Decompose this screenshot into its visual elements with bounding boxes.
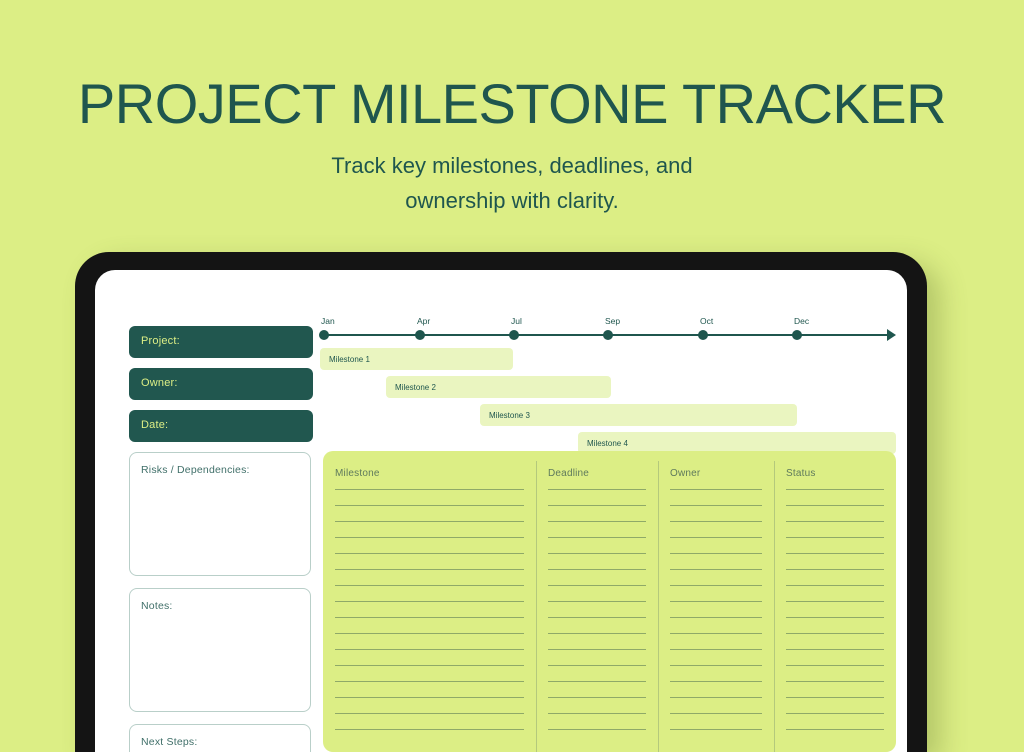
field-owner-label: Owner: — [141, 377, 178, 389]
table-row-line[interactable] — [548, 649, 646, 650]
timeline-tick-dot-oct — [698, 330, 708, 340]
table-row-line[interactable] — [335, 489, 524, 490]
timeline-tick-label-jan: Jan — [321, 316, 335, 326]
milestone-bar-1-label: Milestone 1 — [329, 355, 370, 364]
milestone-bar-1[interactable]: Milestone 1 — [320, 348, 513, 370]
table-row-line[interactable] — [548, 489, 646, 490]
table-row-line[interactable] — [335, 585, 524, 586]
milestone-bar-3[interactable]: Milestone 3 — [480, 404, 797, 426]
table-row-line[interactable] — [786, 569, 884, 570]
tablet-device-frame: Project: Owner: Date: Risks / Dependenci… — [75, 252, 927, 752]
field-project-label: Project: — [141, 335, 180, 347]
table-row-line[interactable] — [335, 713, 524, 714]
page-title: PROJECT MILESTONE TRACKER — [0, 0, 1024, 134]
timeline-tick-dot-jan — [319, 330, 329, 340]
table-header-deadline: Deadline — [548, 468, 589, 479]
table-row-line[interactable] — [786, 585, 884, 586]
table-row-line[interactable] — [548, 601, 646, 602]
timeline-tick-label-dec: Dec — [794, 316, 809, 326]
table-header-status: Status — [786, 468, 816, 479]
timeline-tick-dot-dec — [792, 330, 802, 340]
table-row-line[interactable] — [786, 505, 884, 506]
field-owner[interactable]: Owner: — [129, 368, 313, 400]
timeline-tick-dot-sep — [603, 330, 613, 340]
timeline-tick-label-sep: Sep — [605, 316, 620, 326]
subtitle-line-2: ownership with clarity. — [202, 183, 822, 218]
table-row-line[interactable] — [786, 521, 884, 522]
table-row-line[interactable] — [786, 681, 884, 682]
table-row-line[interactable] — [548, 537, 646, 538]
table-row-line[interactable] — [670, 729, 762, 730]
risks-dependencies-box[interactable]: Risks / Dependencies: — [129, 452, 311, 576]
notes-box[interactable]: Notes: — [129, 588, 311, 712]
table-row-line[interactable] — [670, 617, 762, 618]
table-header-milestone: Milestone — [335, 468, 380, 479]
page-subtitle: Track key milestones, deadlines, and own… — [202, 148, 822, 218]
table-row-line[interactable] — [335, 665, 524, 666]
risks-dependencies-label: Risks / Dependencies: — [141, 464, 250, 476]
table-row-line[interactable] — [335, 617, 524, 618]
table-row-line[interactable] — [786, 617, 884, 618]
table-row-line[interactable] — [670, 505, 762, 506]
table-row-line[interactable] — [548, 697, 646, 698]
table-row-line[interactable] — [786, 697, 884, 698]
table-row-line[interactable] — [670, 713, 762, 714]
timeline-arrow-icon — [887, 329, 896, 341]
subtitle-line-1: Track key milestones, deadlines, and — [202, 148, 822, 183]
table-row-line[interactable] — [786, 713, 884, 714]
table-row-line[interactable] — [786, 649, 884, 650]
table-row-line[interactable] — [335, 505, 524, 506]
table-row-line[interactable] — [335, 521, 524, 522]
next-steps-box[interactable]: Next Steps: — [129, 724, 311, 752]
milestone-table: MilestoneDeadlineOwnerStatus — [323, 451, 896, 752]
table-row-line[interactable] — [335, 569, 524, 570]
table-row-line[interactable] — [670, 521, 762, 522]
table-row-line[interactable] — [786, 537, 884, 538]
milestone-bar-2-label: Milestone 2 — [395, 383, 436, 392]
table-row-line[interactable] — [548, 521, 646, 522]
table-row-line[interactable] — [548, 665, 646, 666]
milestone-bar-2[interactable]: Milestone 2 — [386, 376, 611, 398]
table-row-line[interactable] — [335, 601, 524, 602]
timeline-tick-label-oct: Oct — [700, 316, 713, 326]
table-row-line[interactable] — [548, 569, 646, 570]
table-row-line[interactable] — [335, 681, 524, 682]
timeline-tick-dot-apr — [415, 330, 425, 340]
field-date[interactable]: Date: — [129, 410, 313, 442]
table-row-line[interactable] — [548, 681, 646, 682]
table-column-divider — [774, 461, 775, 752]
field-date-label: Date: — [141, 419, 168, 431]
table-row-line[interactable] — [335, 553, 524, 554]
timeline-tick-dot-jul — [509, 330, 519, 340]
table-row-line[interactable] — [786, 729, 884, 730]
table-row-line[interactable] — [786, 601, 884, 602]
table-row-line[interactable] — [548, 729, 646, 730]
table-row-line[interactable] — [786, 665, 884, 666]
milestone-bar-4-label: Milestone 4 — [587, 439, 628, 448]
timeline-axis: JanAprJulSepOctDec — [324, 316, 899, 340]
table-row-line[interactable] — [670, 681, 762, 682]
milestone-bar-3-label: Milestone 3 — [489, 411, 530, 420]
table-row-line[interactable] — [548, 633, 646, 634]
table-row-line[interactable] — [335, 729, 524, 730]
table-row-line[interactable] — [670, 649, 762, 650]
table-row-line[interactable] — [670, 697, 762, 698]
table-row-line[interactable] — [335, 537, 524, 538]
timeline-tick-label-jul: Jul — [511, 316, 522, 326]
table-row-line[interactable] — [548, 585, 646, 586]
table-row-line[interactable] — [670, 489, 762, 490]
table-row-line[interactable] — [335, 697, 524, 698]
table-row-line[interactable] — [548, 713, 646, 714]
page-header: PROJECT MILESTONE TRACKER Track key mile… — [0, 0, 1024, 218]
table-column-divider — [536, 461, 537, 752]
table-row-line[interactable] — [670, 601, 762, 602]
table-row-line[interactable] — [335, 633, 524, 634]
table-row-line[interactable] — [335, 649, 524, 650]
table-row-line[interactable] — [786, 553, 884, 554]
field-project[interactable]: Project: — [129, 326, 313, 358]
notes-label: Notes: — [141, 600, 173, 612]
table-row-line[interactable] — [548, 505, 646, 506]
table-row-line[interactable] — [670, 537, 762, 538]
table-row-line[interactable] — [670, 553, 762, 554]
tablet-screen: Project: Owner: Date: Risks / Dependenci… — [95, 270, 907, 752]
table-row-line[interactable] — [670, 633, 762, 634]
table-row-line[interactable] — [670, 665, 762, 666]
table-row-line[interactable] — [786, 489, 884, 490]
table-row-line[interactable] — [548, 553, 646, 554]
table-row-line[interactable] — [786, 633, 884, 634]
table-row-line[interactable] — [670, 585, 762, 586]
table-header-owner: Owner — [670, 468, 700, 479]
table-row-line[interactable] — [548, 617, 646, 618]
timeline-tick-label-apr: Apr — [417, 316, 430, 326]
table-row-line[interactable] — [670, 569, 762, 570]
table-column-divider — [658, 461, 659, 752]
next-steps-label: Next Steps: — [141, 736, 197, 748]
